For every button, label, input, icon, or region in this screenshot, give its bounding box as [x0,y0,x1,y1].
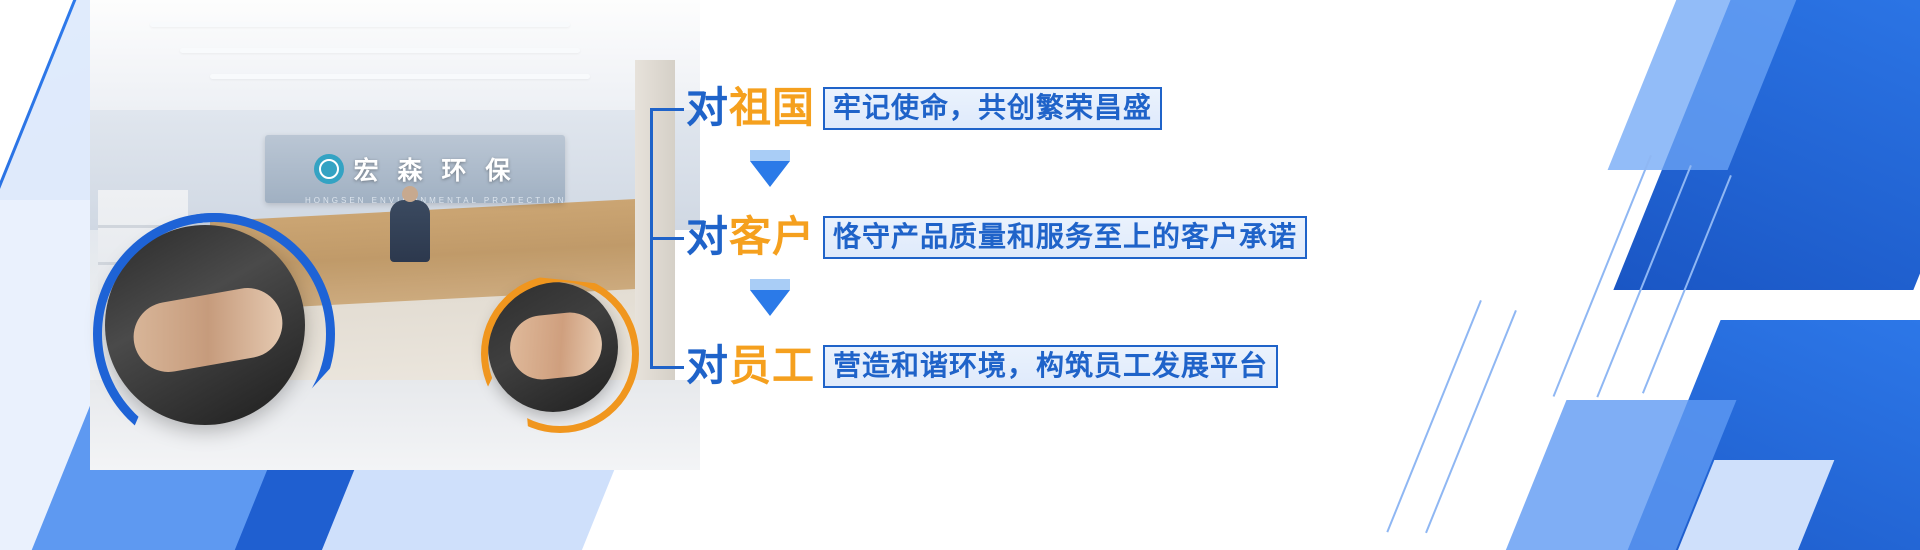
diagonal-hairline-5 [1425,310,1517,533]
bracket-arm-2 [650,237,684,240]
value-chip-country: 牢记使命，共创繁荣昌盛 [823,87,1162,130]
value-target-customer: 客户 [729,213,815,260]
value-prefix-customer: 对 [686,213,729,260]
bracket-arm-3 [650,366,684,369]
bracket-arm-1 [650,108,684,111]
down-arrow-2-triangle [750,290,790,316]
down-arrow-1-triangle [750,161,790,187]
value-row-employee: 对员工 营造和谐环境，构筑员工发展平台 [686,340,1278,392]
value-target-employee: 员工 [729,342,815,389]
diagonal-hairline-4 [1386,300,1482,533]
ceiling-light-strip-1 [150,22,570,27]
value-lead-employee: 对员工 [686,345,815,387]
value-prefix-employee: 对 [686,342,729,389]
down-arrow-1-icon [750,150,790,187]
photo-ceiling [90,0,700,120]
photo-receptionist [390,200,430,262]
value-lead-customer: 对客户 [686,216,815,258]
company-name-text: 宏 森 环 保 [354,151,517,187]
down-arrow-2-cap [750,279,790,290]
company-values-banner: 宏 森 环 保 HONGSEN ENVIRONMENTAL PROTECTION… [0,0,1920,550]
down-arrow-1-cap [750,150,790,161]
value-row-customer: 对客户 恪守产品质量和服务至上的客户承诺 [686,211,1307,263]
down-arrow-2-icon [750,279,790,316]
value-row-country: 对祖国 牢记使命，共创繁荣昌盛 [686,82,1162,134]
values-list: 对祖国 牢记使命，共创繁荣昌盛 对客户 恪守产品质量和服务至上的客户承诺 对员工… [650,78,1350,378]
company-name-subtext: HONGSEN ENVIRONMENTAL PROTECTION [305,196,566,205]
value-chip-employee: 营造和谐环境，构筑员工发展平台 [823,345,1278,388]
value-lead-country: 对祖国 [686,87,815,129]
value-chip-customer: 恪守产品质量和服务至上的客户承诺 [823,216,1307,259]
ceiling-light-strip-2 [180,48,580,53]
company-logo-icon [314,154,344,184]
ceiling-light-strip-3 [210,74,590,79]
value-prefix-country: 对 [686,84,729,131]
value-target-country: 祖国 [729,84,815,131]
